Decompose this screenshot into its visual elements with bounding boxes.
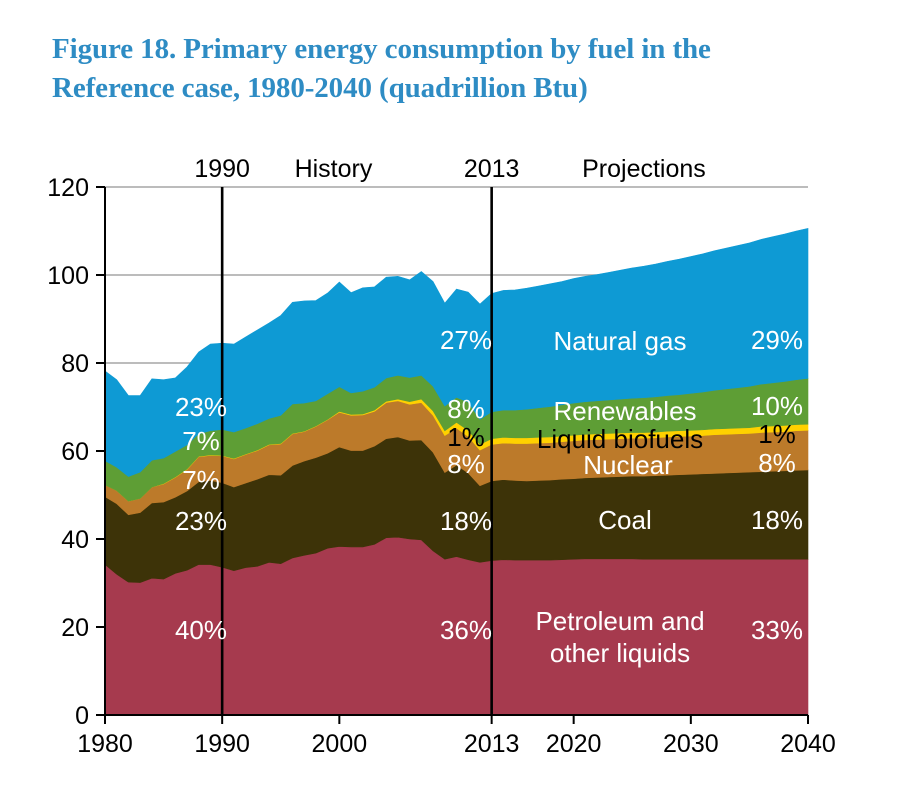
share-label-liquid-biofuels-2013: 1% — [447, 422, 485, 452]
series-label-renewables: Renewables — [553, 396, 696, 426]
share-label-nuclear-2013: 8% — [447, 449, 485, 479]
y-axis-tick-labels: 020406080100120 — [47, 174, 89, 730]
share-label-renewables-2013: 8% — [447, 394, 485, 424]
figure-root: Figure 18. Primary energy consumption by… — [0, 0, 900, 800]
series-label-petroleum-and-other-liquids: other liquids — [550, 638, 690, 668]
y-axis-tick-label: 40 — [61, 526, 89, 554]
x-axis-tick-label: 2013 — [464, 730, 520, 758]
x-axis-tick-label: 2040 — [780, 730, 836, 758]
era-annotation-history-label: History — [295, 155, 373, 183]
share-label-natural-gas-2013: 27% — [440, 325, 492, 355]
x-axis-tick-label: 2000 — [312, 730, 368, 758]
share-label-petroleum-and-other-liquids-1990: 40% — [175, 615, 227, 645]
y-axis-tick-label: 20 — [61, 614, 89, 642]
era-annotation-divider-left-label: 1990 — [194, 155, 250, 183]
series-label-nuclear: Nuclear — [583, 450, 673, 480]
share-label-renewables-1990: 7% — [182, 426, 220, 456]
series-label-coal: Coal — [598, 505, 651, 535]
share-label-coal-2040: 18% — [751, 505, 803, 535]
share-label-coal-1990: 23% — [175, 506, 227, 536]
era-annotation-divider-right-label: 2013 — [464, 155, 520, 183]
x-axis-tick-labels: 1980199020002013202020302040 — [77, 730, 836, 758]
x-axis-tick-label: 1990 — [194, 730, 250, 758]
y-axis-tick-label: 80 — [61, 350, 89, 378]
x-axis-tick-label: 2030 — [663, 730, 719, 758]
share-label-petroleum-and-other-liquids-2013: 36% — [440, 615, 492, 645]
y-axis-tick-label: 60 — [61, 438, 89, 466]
series-label-natural-gas: Natural gas — [554, 326, 687, 356]
share-label-nuclear-1990: 7% — [182, 465, 220, 495]
stacked-area-chart: 020406080100120 198019902000201320202030… — [0, 0, 900, 800]
x-axis-tick-label: 2020 — [546, 730, 602, 758]
y-axis-tick-label: 0 — [75, 702, 89, 730]
share-label-nuclear-2040: 8% — [758, 448, 796, 478]
share-label-natural-gas-2040: 29% — [751, 325, 803, 355]
era-annotation-projections-label: Projections — [582, 155, 706, 183]
series-label-petroleum-and-other-liquids: Petroleum and — [535, 606, 704, 636]
share-label-liquid-biofuels-2040: 1% — [758, 419, 796, 449]
y-axis-tick-label: 100 — [47, 262, 89, 290]
share-label-coal-2013: 18% — [440, 506, 492, 536]
era-annotations: 1990History2013Projections — [194, 155, 705, 183]
share-label-renewables-2040: 10% — [751, 391, 803, 421]
chart-area: 020406080100120 198019902000201320202030… — [0, 0, 900, 800]
x-axis-tick-label: 1980 — [77, 730, 133, 758]
share-label-petroleum-and-other-liquids-2040: 33% — [751, 615, 803, 645]
series-label-liquid-biofuels: Liquid biofuels — [537, 424, 703, 454]
y-axis-tick-label: 120 — [47, 174, 89, 202]
share-label-natural-gas-1990: 23% — [175, 392, 227, 422]
